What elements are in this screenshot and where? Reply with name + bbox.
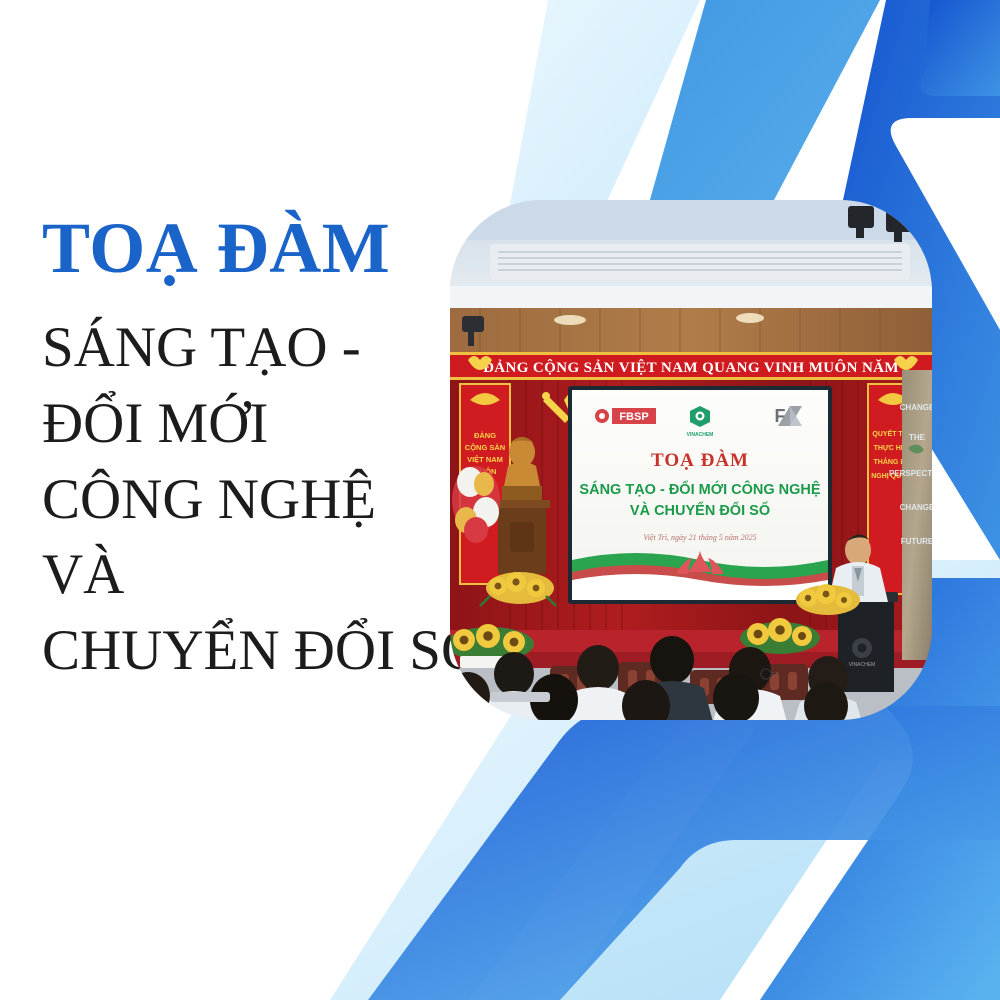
screen-subtitle-2: VÀ CHUYỂN ĐỔI SỐ xyxy=(630,501,770,519)
subtitle-line-2: ĐỔI MỚI xyxy=(42,386,472,462)
chevron-top-corner-fill xyxy=(920,0,1000,96)
subtitle-line-1: SÁNG TẠO - xyxy=(42,310,472,386)
event-photo-content: ĐẢNG CỘNG SẢN VIỆT NAM QUANG VINH MUÔN N… xyxy=(450,200,932,720)
screen-logo-vinachem: VINACHEM xyxy=(687,406,714,438)
headline-block: TOẠ ĐÀM SÁNG TẠO - ĐỔI MỚI CÔNG NGHỆ VÀ … xyxy=(42,212,472,689)
svg-text:FBSP: FBSP xyxy=(619,411,648,423)
subtitle-line-5: CHUYỂN ĐỔI SỐ xyxy=(42,613,472,689)
svg-text:ĐẢNG: ĐẢNG xyxy=(474,431,496,440)
svg-text:VIỆT NAM: VIỆT NAM xyxy=(467,455,503,464)
screen-subtitle-1: SÁNG TẠO - ĐỔI MỚI CÔNG NGHỆ xyxy=(579,480,820,498)
podium-logo-text: VINACHEM xyxy=(849,662,875,668)
subtitle-line-4: VÀ xyxy=(42,537,472,613)
hall-banner-text: ĐẢNG CỘNG SẢN VIỆT NAM QUANG VINH MUÔN N… xyxy=(483,359,899,376)
main-title: TOẠ ĐÀM xyxy=(42,212,472,284)
svg-text:VINACHEM: VINACHEM xyxy=(687,432,714,438)
poster-canvas: TOẠ ĐÀM SÁNG TẠO - ĐỔI MỚI CÔNG NGHỆ VÀ … xyxy=(0,0,1000,1000)
screen-date: Việt Trì, ngày 21 tháng 5 năm 2025 xyxy=(643,533,756,542)
svg-text:CHANGE: CHANGE xyxy=(900,503,932,512)
svg-text:THE: THE xyxy=(909,433,926,442)
subtitle-line-3: CÔNG NGHỆ xyxy=(42,462,472,538)
svg-text:PERSPECTIVE: PERSPECTIVE xyxy=(889,469,932,478)
svg-text:CHANGE: CHANGE xyxy=(900,403,932,412)
screen-title: TOẠ ĐÀM xyxy=(651,449,749,471)
chevron-bottom-mid xyxy=(368,706,1000,1000)
event-photo: ĐẢNG CỘNG SẢN VIỆT NAM QUANG VINH MUÔN N… xyxy=(450,200,932,720)
subtitle: SÁNG TẠO - ĐỔI MỚI CÔNG NGHỆ VÀ CHUYỂN Đ… xyxy=(42,310,472,689)
svg-text:FUTURE: FUTURE xyxy=(901,537,932,546)
presentation-screen: FBSP VINACHEM F TOẠ ĐÀM xyxy=(568,386,832,604)
screen-logo-fbsp: FBSP xyxy=(595,408,656,424)
svg-text:CỘNG SẢN: CỘNG SẢN xyxy=(465,443,505,452)
